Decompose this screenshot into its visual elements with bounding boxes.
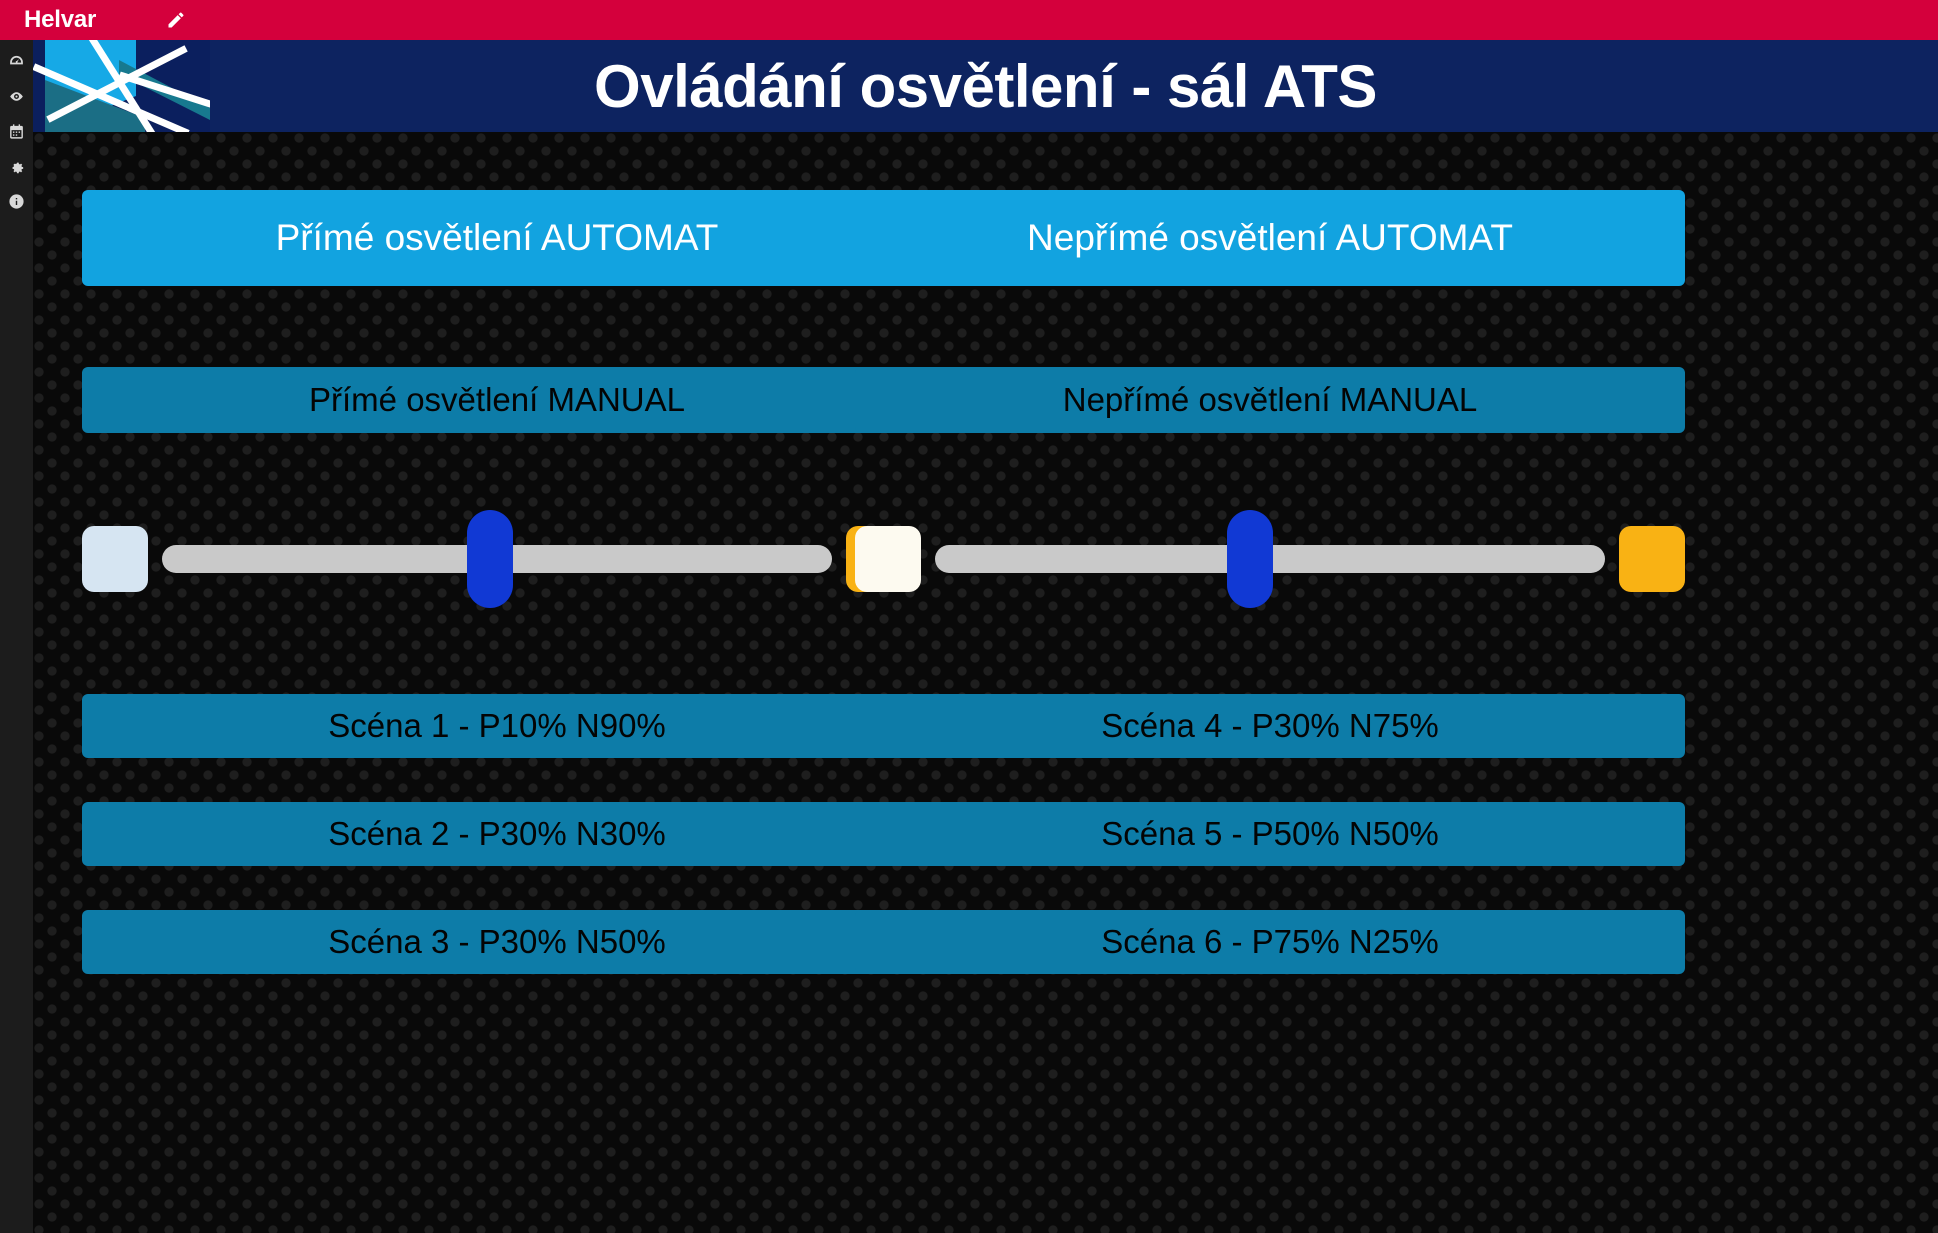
- indirect-slider-wrap: [855, 504, 1685, 614]
- calendar-icon[interactable]: [8, 123, 25, 140]
- direct-automat-button[interactable]: Přímé osvětlení AUTOMAT: [82, 190, 912, 286]
- scene-button-2[interactable]: Scéna 2 - P30% N30%: [82, 802, 912, 866]
- direct-lighting-column: Přímé osvětlení AUTOMAT: [82, 190, 912, 286]
- direct-slider-low-swatch[interactable]: [82, 526, 148, 592]
- indirect-scene-list: Scéna 4 - P30% N75% Scéna 5 - P50% N50% …: [855, 694, 1685, 1018]
- direct-manual-button[interactable]: Přímé osvětlení MANUAL: [82, 367, 912, 433]
- eye-icon[interactable]: [8, 88, 25, 105]
- scene-button-3[interactable]: Scéna 3 - P30% N50%: [82, 910, 912, 974]
- indirect-lighting-slider[interactable]: [855, 504, 1685, 614]
- control-panel: Přímé osvětlení AUTOMAT Přímé osvětlení …: [33, 132, 1938, 1233]
- direct-scene-list: Scéna 1 - P10% N90% Scéna 2 - P30% N30% …: [82, 694, 912, 1018]
- pencil-icon[interactable]: [96, 10, 186, 30]
- indirect-slider-track[interactable]: [935, 545, 1605, 573]
- indirect-lighting-column: Nepřímé osvětlení AUTOMAT: [855, 190, 1685, 286]
- brand-label: Helvar: [24, 6, 96, 34]
- indirect-manual-button[interactable]: Nepřímé osvětlení MANUAL: [855, 367, 1685, 433]
- direct-slider-track-area[interactable]: [162, 504, 832, 614]
- lighting-control-page: Helvar: [0, 0, 1938, 1233]
- indirect-slider-low-swatch[interactable]: [855, 526, 921, 592]
- scene-button-5[interactable]: Scéna 5 - P50% N50%: [855, 802, 1685, 866]
- direct-slider-thumb[interactable]: [467, 510, 513, 608]
- info-icon[interactable]: [8, 193, 25, 210]
- indirect-slider-thumb[interactable]: [1227, 510, 1273, 608]
- direct-manual-wrap: Přímé osvětlení MANUAL: [82, 367, 912, 433]
- page-header: Ovládání osvětlení - sál ATS: [33, 40, 1938, 132]
- scene-button-6[interactable]: Scéna 6 - P75% N25%: [855, 910, 1685, 974]
- direct-slider-track[interactable]: [162, 545, 832, 573]
- indirect-automat-button[interactable]: Nepřímé osvětlení AUTOMAT: [855, 190, 1685, 286]
- indirect-slider-track-area[interactable]: [935, 504, 1605, 614]
- top-brand-bar: Helvar: [0, 0, 1938, 40]
- direct-lighting-slider[interactable]: [82, 504, 912, 614]
- sidebar: [0, 40, 33, 1233]
- gear-icon[interactable]: [8, 158, 25, 175]
- direct-slider-wrap: [82, 504, 912, 614]
- dashboard-gauge-icon[interactable]: [8, 53, 25, 70]
- scene-button-1[interactable]: Scéna 1 - P10% N90%: [82, 694, 912, 758]
- indirect-slider-high-swatch[interactable]: [1619, 526, 1685, 592]
- scene-button-4[interactable]: Scéna 4 - P30% N75%: [855, 694, 1685, 758]
- page-title: Ovládání osvětlení - sál ATS: [33, 40, 1938, 132]
- indirect-manual-wrap: Nepřímé osvětlení MANUAL: [855, 367, 1685, 433]
- helvar-logo-graphic: [33, 40, 210, 132]
